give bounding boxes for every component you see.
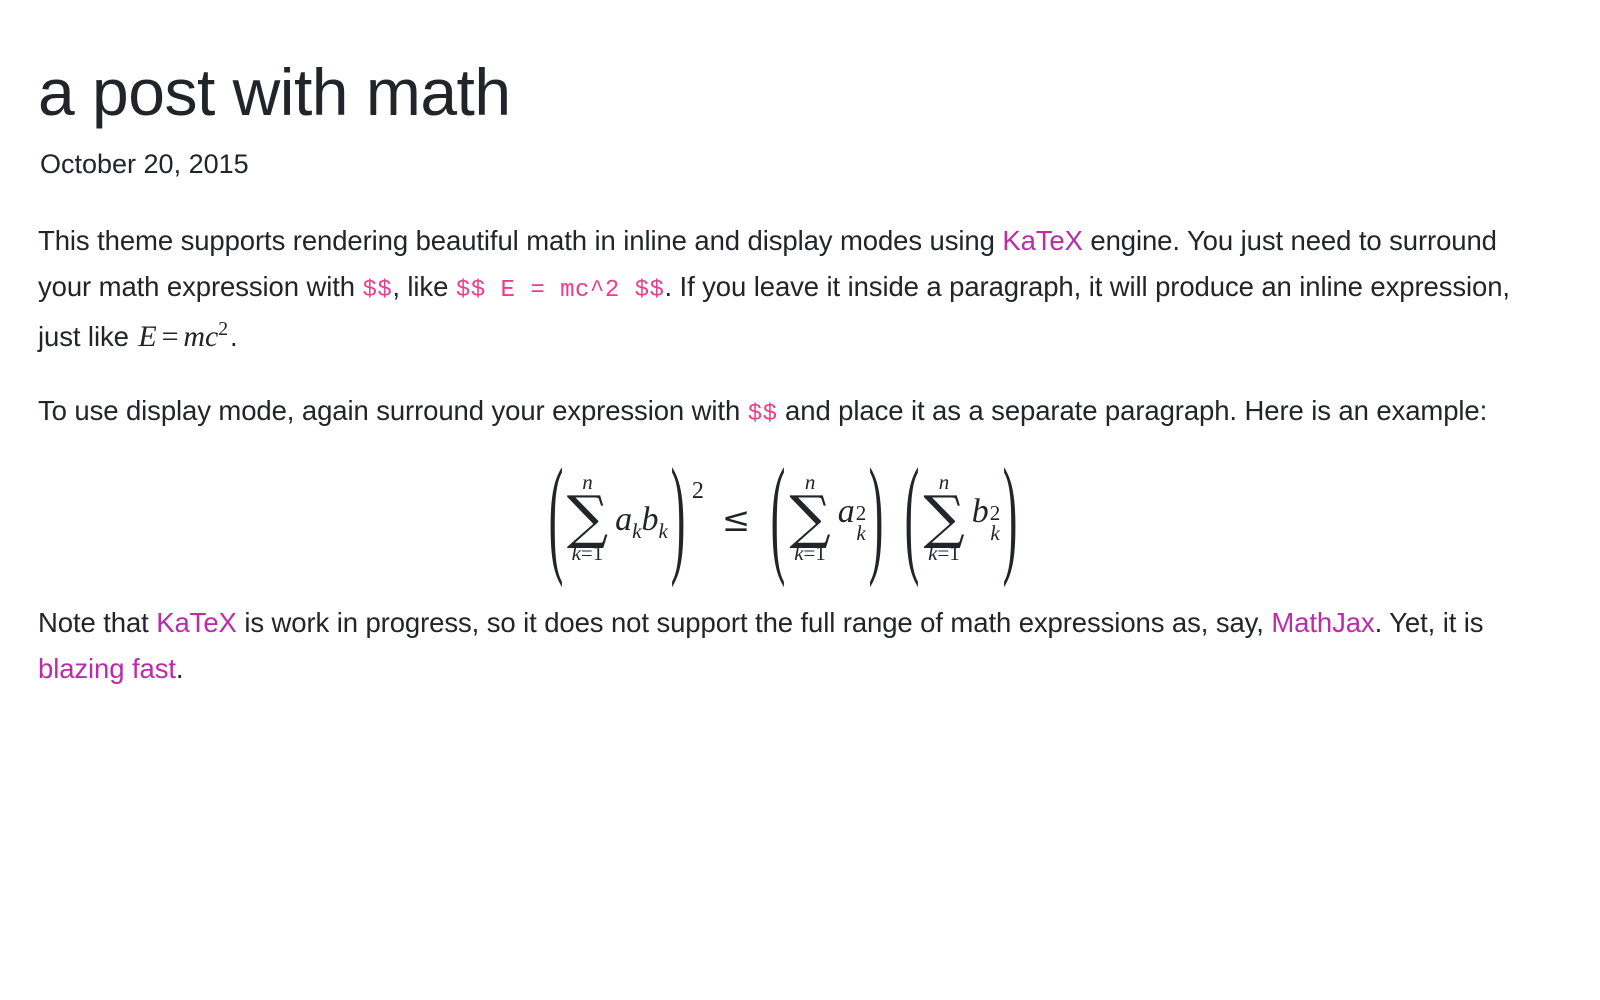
math-symbol-mc: mc [183, 320, 218, 353]
math-subscript-k: k [659, 519, 668, 543]
link-mathjax[interactable]: MathJax [1271, 607, 1374, 638]
math-exponent-2: 2 [692, 478, 704, 505]
link-blazing-fast[interactable]: blazing fast [38, 653, 176, 684]
math-summation: n ∑ k=1 [789, 472, 830, 565]
math-sum-index-var: k [572, 541, 581, 565]
math-symbol-b: b [972, 493, 989, 530]
paragraph-text: is work in progress, so it does not supp… [237, 607, 1272, 638]
code-dollars: $$ [748, 401, 778, 428]
paragraph-intro: This theme supports rendering beautiful … [38, 218, 1528, 360]
math-sum-lower-limit: k=1 [928, 543, 960, 564]
math-subsup-group: 2k [856, 503, 867, 544]
paragraph-text: . [176, 653, 184, 684]
paragraph-note: Note that KaTeX is work in progress, so … [38, 600, 1528, 692]
math-summation: n ∑ k=1 [567, 472, 608, 565]
math-sum-index-eq: = [804, 541, 816, 565]
paragraph-display-mode: To use display mode, again surround your… [38, 388, 1528, 438]
math-symbol-b: b [642, 501, 659, 538]
link-katex[interactable]: KaTeX [156, 607, 237, 638]
paragraph-text: and place it as a separate paragraph. He… [778, 395, 1488, 426]
math-sum-lower-limit: k=1 [794, 543, 826, 564]
math-subscript-k: k [856, 523, 867, 544]
math-sigma-icon: ∑ [567, 494, 608, 542]
math-sigma-icon: ∑ [923, 494, 964, 542]
math-term-ak-bk: akbk [615, 501, 668, 539]
code-dollars: $$ [363, 277, 393, 304]
math-subscript-k: k [990, 523, 1001, 544]
math-group-left: ( n ∑ k=1 akbk ) 2 [546, 472, 704, 565]
math-sum-index-var: k [794, 541, 803, 565]
math-paren-open: ( [548, 452, 563, 584]
post-body: This theme supports rendering beautiful … [38, 218, 1528, 693]
math-sum-index-val: 1 [815, 541, 826, 565]
paragraph-text: . Yet, it is [1375, 607, 1484, 638]
math-summation: n ∑ k=1 [923, 472, 964, 565]
math-paren-close: ) [1003, 452, 1018, 584]
paragraph-text: , like [392, 271, 456, 302]
inline-math-emc2: E=mc2 [136, 320, 230, 353]
math-sum-index-eq: = [938, 541, 950, 565]
math-term-ak-squared: a2k [838, 493, 867, 546]
math-symbol-a: a [838, 493, 855, 530]
paragraph-text: To use display mode, again surround your… [38, 395, 748, 426]
math-subsup-group: 2k [990, 503, 1001, 544]
math-group-b-squared: ( n ∑ k=1 b2k ) [902, 472, 1020, 565]
paragraph-text: This theme supports rendering beautiful … [38, 225, 1002, 256]
math-paren-close: ) [869, 452, 884, 584]
paragraph-text: Note that [38, 607, 156, 638]
page-title: a post with math [38, 58, 1560, 128]
math-subscript-k: k [632, 519, 641, 543]
math-paren-open: ( [771, 452, 786, 584]
math-sigma-icon: ∑ [789, 494, 830, 542]
math-paren-open: ( [905, 452, 920, 584]
math-symbol-a: a [615, 501, 632, 538]
math-relation-leq: ≤ [722, 500, 751, 540]
display-math-cauchy-schwarz: ( n ∑ k=1 akbk ) 2 ≤ ( n ∑ [38, 472, 1528, 565]
math-sum-lower-limit: k=1 [572, 543, 604, 564]
math-row: ( n ∑ k=1 akbk ) 2 ≤ ( n ∑ [546, 472, 1021, 565]
link-katex[interactable]: KaTeX [1002, 225, 1083, 256]
paragraph-text: . [230, 321, 238, 352]
code-math-example: $$ E = mc^2 $$ [456, 277, 665, 304]
math-operator-equals: = [157, 320, 184, 353]
math-sum-index-val: 1 [593, 541, 604, 565]
math-sum-index-eq: = [581, 541, 593, 565]
math-exponent-2: 2 [218, 318, 228, 340]
math-group-a-squared: ( n ∑ k=1 a2k ) [768, 472, 886, 565]
math-term-bk-squared: b2k [972, 493, 1001, 546]
post-date: October 20, 2015 [40, 146, 1560, 184]
math-sum-index-var: k [928, 541, 937, 565]
math-sum-index-val: 1 [949, 541, 960, 565]
math-paren-close: ) [671, 452, 686, 584]
post-page: a post with math October 20, 2015 This t… [0, 0, 1600, 1000]
math-symbol-E: E [138, 320, 156, 353]
